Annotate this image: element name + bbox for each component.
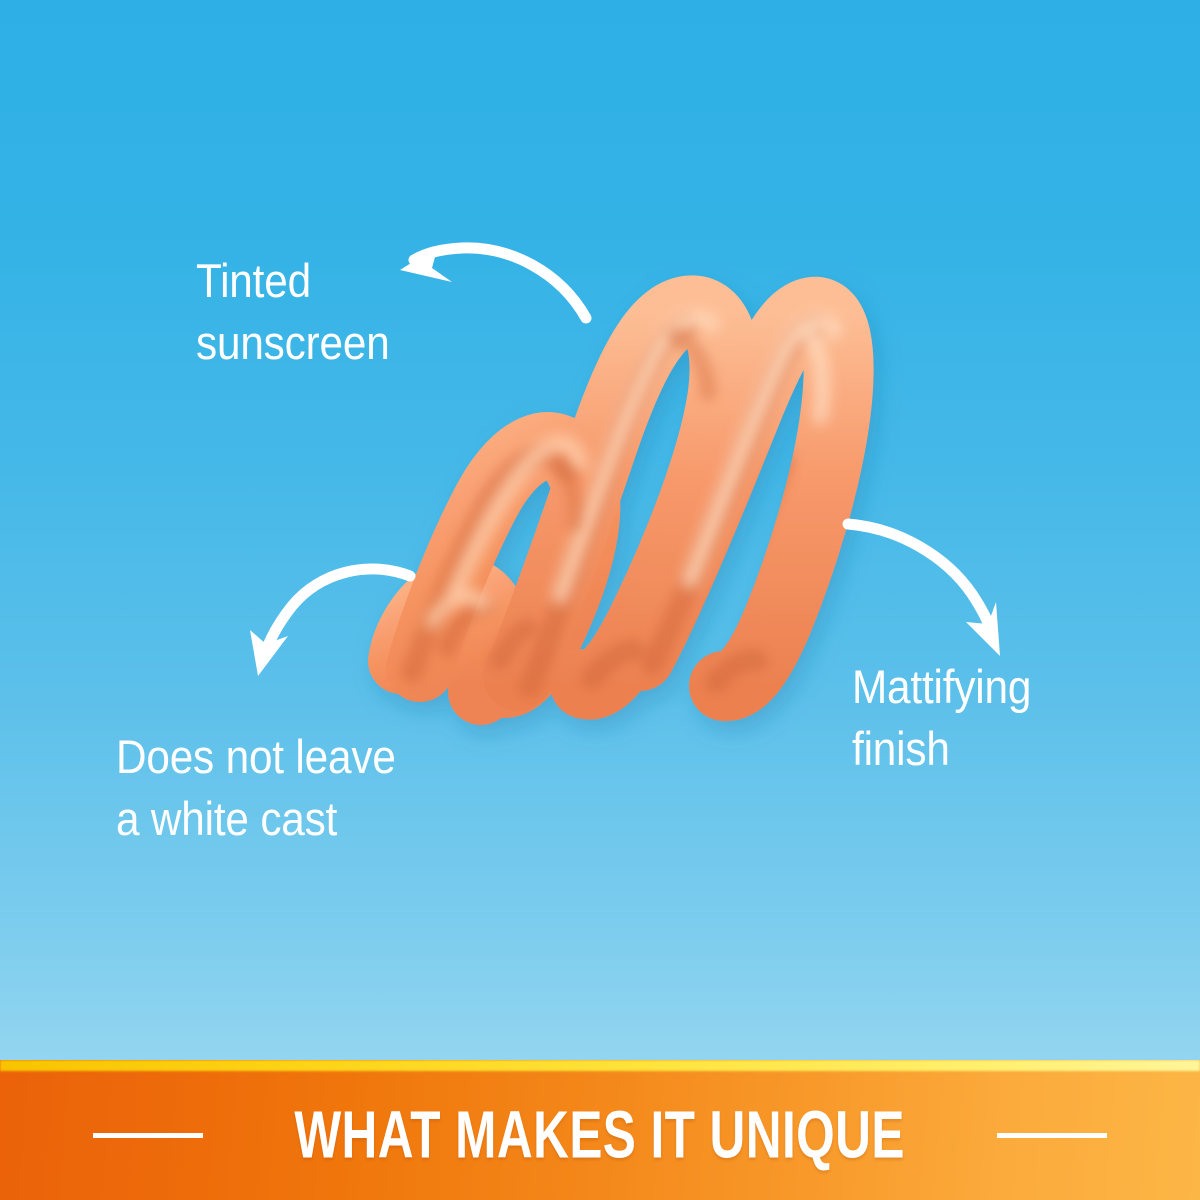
bottom-banner: WHAT MAKES IT UNIQUE (0, 1060, 1200, 1200)
callout-arrows (0, 0, 1200, 1200)
arrow-white-cast-icon (250, 569, 410, 676)
banner-rule-right (997, 1133, 1107, 1138)
banner-top-glow (0, 1060, 1200, 1071)
callout-label-white-cast: Does not leave a white cast (116, 726, 396, 850)
banner-title: WHAT MAKES IT UNIQUE (295, 1102, 906, 1169)
banner-content: WHAT MAKES IT UNIQUE (0, 1071, 1200, 1200)
callout-label-mattifying: Mattifying finish (852, 656, 1031, 780)
poster-canvas: Tinted sunscreen Does not leave a white … (0, 0, 1200, 1200)
arrow-mattifying-icon (848, 524, 1000, 656)
banner-rule-left (93, 1133, 203, 1138)
callout-label-tinted: Tinted sunscreen (196, 250, 390, 374)
arrows-svg (0, 0, 1200, 1200)
arrow-tinted-icon (400, 246, 586, 318)
